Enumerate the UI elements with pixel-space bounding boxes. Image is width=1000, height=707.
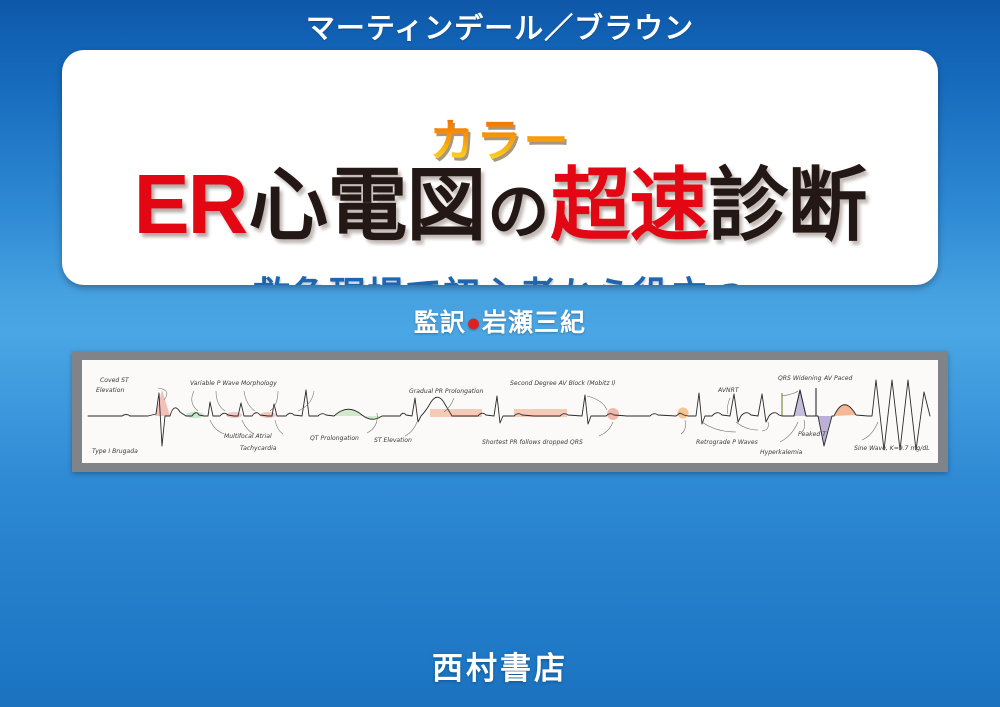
lead-variable-p-4 — [270, 391, 278, 411]
authors-text: マーティンデール／ブラウン — [306, 5, 694, 47]
main-title: ER心電図の超速診断 — [62, 162, 938, 246]
lead-qrs-widening — [782, 391, 798, 396]
ecg-label-gradual-pr: Gradual PR Prolongation — [409, 387, 484, 395]
lead-shortest-pr-2 — [681, 420, 686, 434]
authors-band: マーティンデール／ブラウン — [0, 0, 1000, 52]
ecg-label-hyperkalemia: Hyperkalemia — [760, 449, 803, 456]
ecg-label-shortest-pr: Shortest PR follows dropped QRS — [482, 438, 583, 446]
qt-shade — [335, 410, 383, 419]
title-card: カラー ER心電図の超速診断 救急現場で初心者から役立つ — [62, 50, 938, 285]
title-part-chousoku: 超速 — [550, 166, 708, 246]
lead-retrograde-1 — [702, 422, 736, 432]
ecg-label-sine-wave: Sine Wave, K=9.7 mg/dL — [854, 445, 930, 452]
ecg-label-mat-2: Tachycardia — [240, 445, 277, 452]
ecg-strip-svg: Coved ST Elevation Type I Brugada Variab… — [82, 360, 938, 463]
shortest-pr-shade — [678, 408, 689, 419]
lead-mat-1 — [210, 420, 224, 434]
ecg-label-variable-p: Variable P Wave Morphology — [190, 380, 277, 387]
publisher-name: 西村書店 — [0, 643, 1000, 688]
lead-st-elev — [405, 422, 417, 436]
lead-mat-3 — [275, 420, 283, 434]
supervisor-label: 監訳 — [414, 309, 466, 337]
ecg-label-st-elevation: ST Elevation — [374, 436, 412, 444]
ecg-strip-paper: Coved ST Elevation Type I Brugada Variab… — [82, 360, 938, 463]
lead-hyperkalemia — [780, 422, 798, 442]
title-part-er: ER — [134, 162, 247, 246]
ecg-label-coved-st-1: Coved ST — [100, 377, 130, 384]
title-part-shindenzu: 心電図 — [248, 166, 485, 246]
lead-variable-p-3 — [244, 391, 255, 411]
lead-sine-wave — [862, 422, 878, 440]
qrs-widening-shade — [794, 390, 806, 416]
supervisor-line: 監訳●岩瀬三紀 — [0, 303, 1000, 339]
lead-variable-p-2 — [216, 391, 225, 411]
lead-variable-p-5 — [298, 391, 314, 411]
ecg-label-mat-1: Multifocal Atrial — [224, 432, 272, 440]
ecg-label-avnrt: AVNRT — [717, 387, 740, 394]
ecg-label-av-paced: AV Paced — [823, 375, 852, 382]
lead-second-degree — [587, 396, 607, 410]
subtitle: 救急現場で初心者から役立つ — [62, 265, 938, 285]
ecg-label-brugada: Type I Brugada — [92, 448, 138, 455]
ecg-label-retrograde-p: Retrograde P Waves — [696, 438, 759, 446]
lead-avnrt-1 — [727, 398, 730, 414]
lead-retrograde-3 — [762, 422, 768, 431]
ecg-label-second-degree: Second Degree AV Block (Mobitz I) — [510, 379, 616, 387]
lead-shortest-pr-1 — [599, 422, 613, 436]
ecg-label-peaked-t: Peaked T — [798, 431, 827, 438]
ecg-label-coved-st-2: Elevation — [96, 386, 124, 394]
ecg-strip-frame: Coved ST Elevation Type I Brugada Variab… — [72, 351, 948, 472]
supervisor-bullet-icon: ● — [466, 309, 482, 337]
lead-variable-p-1 — [192, 391, 198, 411]
lead-retrograde-2 — [736, 422, 758, 430]
ecg-label-qt: QT Prolongation — [310, 434, 359, 442]
supervisor-name: 岩瀬三紀 — [482, 309, 586, 337]
ecg-label-qrs-widening: QRS Widening — [778, 375, 822, 382]
title-part-shindan: 診断 — [708, 166, 866, 246]
lead-mat-2 — [242, 420, 254, 434]
title-part-no: の — [487, 182, 548, 244]
